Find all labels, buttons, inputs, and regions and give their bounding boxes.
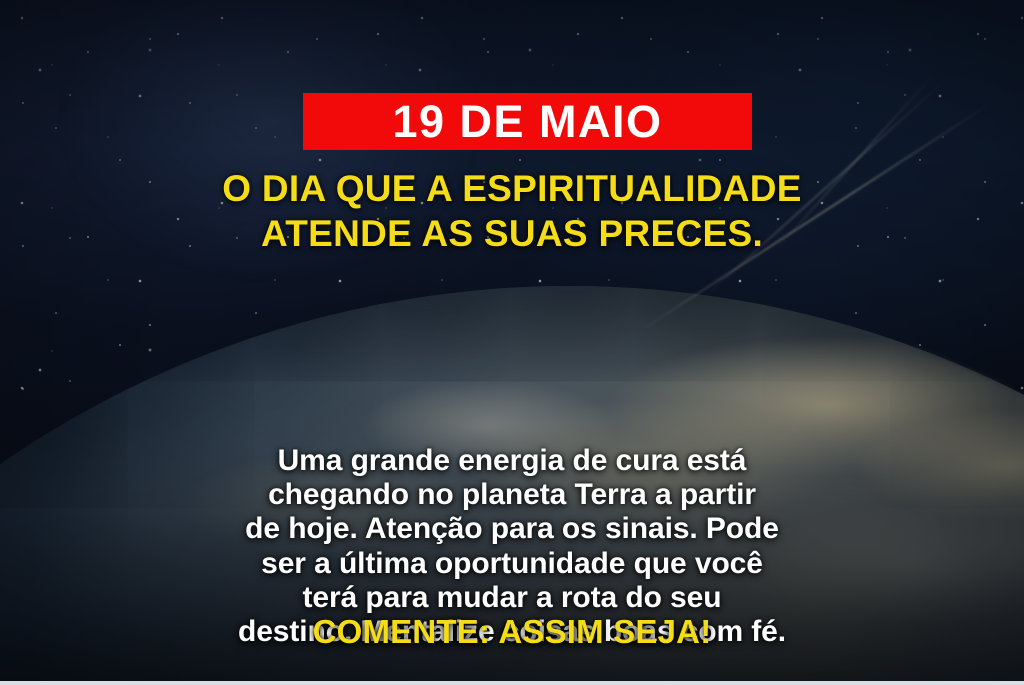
body-line-3: de hoje. Atenção para os sinais. Pode <box>0 512 1024 546</box>
body-line-5: terá para mudar a rota do seu <box>0 581 1024 615</box>
body-line-4: ser a última oportunidade que você <box>0 547 1024 581</box>
headline-line-1: O DIA QUE A ESPIRITUALIDADE <box>0 166 1024 211</box>
headline: O DIA QUE A ESPIRITUALIDADE ATENDE AS SU… <box>0 166 1024 256</box>
body-line-1: Uma grande energia de cura está <box>0 444 1024 478</box>
headline-line-2: ATENDE AS SUAS PRECES. <box>0 211 1024 256</box>
poster: 19 DE MAIO O DIA QUE A ESPIRITUALIDADE A… <box>0 0 1024 685</box>
date-banner-text: 19 DE MAIO <box>392 99 662 144</box>
poster-content: 19 DE MAIO O DIA QUE A ESPIRITUALIDADE A… <box>0 0 1024 685</box>
body-line-2: chegando no planeta Terra a partir <box>0 478 1024 512</box>
call-to-action-text: COMENTE: ASSIM SEJA! <box>0 615 1024 648</box>
date-banner: 19 DE MAIO <box>303 93 752 150</box>
